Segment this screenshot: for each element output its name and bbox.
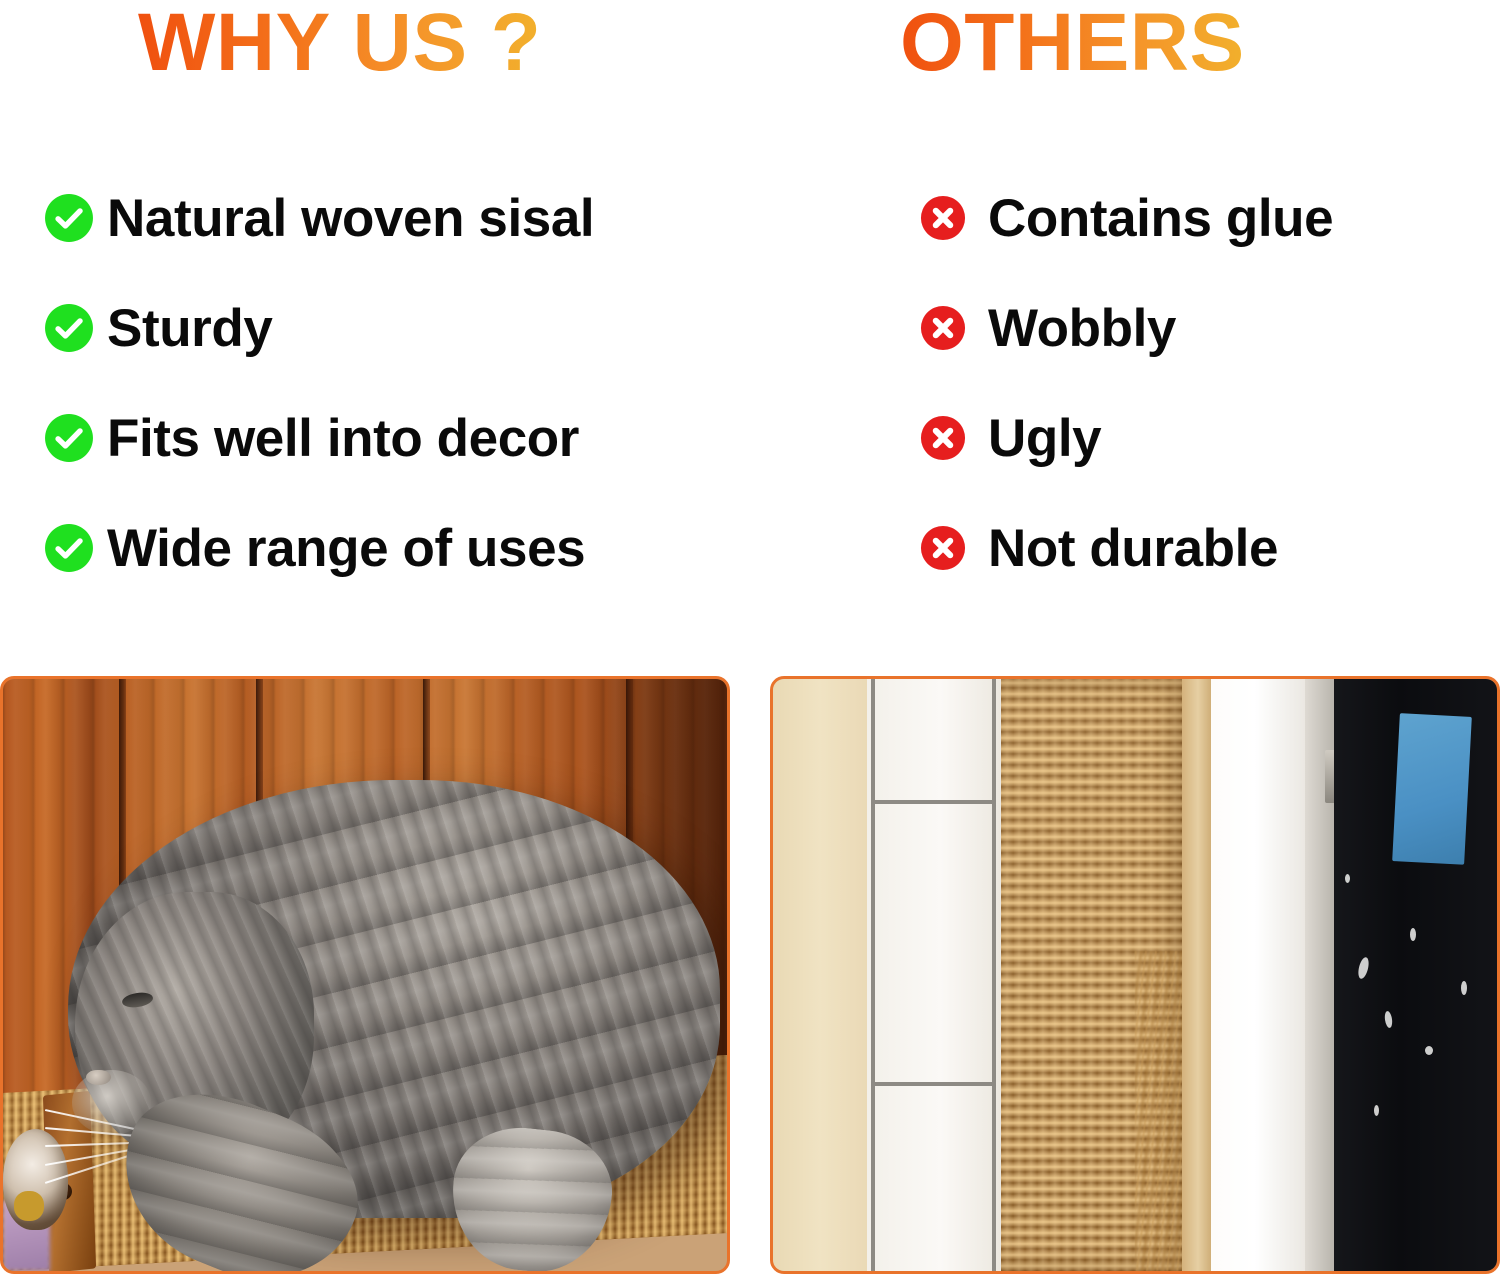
- list-item: Not durable: [920, 516, 1480, 580]
- mat-edge-trim: [1182, 679, 1211, 1271]
- comparison-infographic: WHY US ? OTHERS Natural woven sisal Stur…: [0, 0, 1500, 1274]
- check-circle-icon: [44, 303, 94, 353]
- list-item-label: Contains glue: [988, 192, 1333, 245]
- photo-content: [3, 679, 727, 1271]
- list-item-label: Wobbly: [988, 302, 1176, 355]
- paint-speck: [1410, 928, 1416, 941]
- check-circle-icon: [44, 413, 94, 463]
- tile-grout-line: [871, 679, 875, 1271]
- white-door-frame: [1211, 679, 1309, 1271]
- plush-toy-accent: [14, 1191, 44, 1221]
- cons-heading: OTHERS: [900, 2, 1245, 84]
- tile-grout-line: [871, 1082, 994, 1086]
- paint-speck: [1425, 1046, 1433, 1055]
- pros-list: Natural woven sisal Sturdy Fits well int…: [44, 186, 734, 626]
- frayed-sisal-mat-on-door-photo: [770, 676, 1500, 1274]
- tile-grout-line: [871, 800, 994, 804]
- paint-speck: [1374, 1105, 1379, 1116]
- blue-painter-tape: [1392, 713, 1472, 865]
- beige-wall-panel: [773, 679, 867, 1271]
- check-circle-icon: [44, 523, 94, 573]
- list-item: Wide range of uses: [44, 516, 734, 580]
- list-item-label: Wide range of uses: [107, 522, 585, 575]
- list-item: Sturdy: [44, 296, 734, 360]
- list-item-label: Sturdy: [107, 302, 272, 355]
- photo-content: [773, 679, 1497, 1271]
- cross-circle-icon: [920, 415, 966, 461]
- white-tiled-wall: [867, 679, 1001, 1271]
- list-item-label: Ugly: [988, 412, 1101, 465]
- list-item: Ugly: [920, 406, 1480, 470]
- gray-cat-on-sisal-scratching-mat-photo: [0, 676, 730, 1274]
- list-item-label: Natural woven sisal: [107, 192, 594, 245]
- list-item: Contains glue: [920, 186, 1480, 250]
- cat-nose: [86, 1070, 111, 1085]
- cross-circle-icon: [920, 195, 966, 241]
- cross-circle-icon: [920, 305, 966, 351]
- list-item: Wobbly: [920, 296, 1480, 360]
- tile-grout-line: [992, 679, 996, 1271]
- list-item-label: Not durable: [988, 522, 1278, 575]
- check-circle-icon: [44, 193, 94, 243]
- list-item-label: Fits well into decor: [107, 412, 579, 465]
- cons-list: Contains glue Wobbly Ugly Not durable: [920, 186, 1480, 626]
- list-item: Natural woven sisal: [44, 186, 734, 250]
- pros-heading: WHY US ?: [138, 2, 541, 84]
- cross-circle-icon: [920, 525, 966, 571]
- paint-speck: [1461, 981, 1467, 995]
- list-item: Fits well into decor: [44, 406, 734, 470]
